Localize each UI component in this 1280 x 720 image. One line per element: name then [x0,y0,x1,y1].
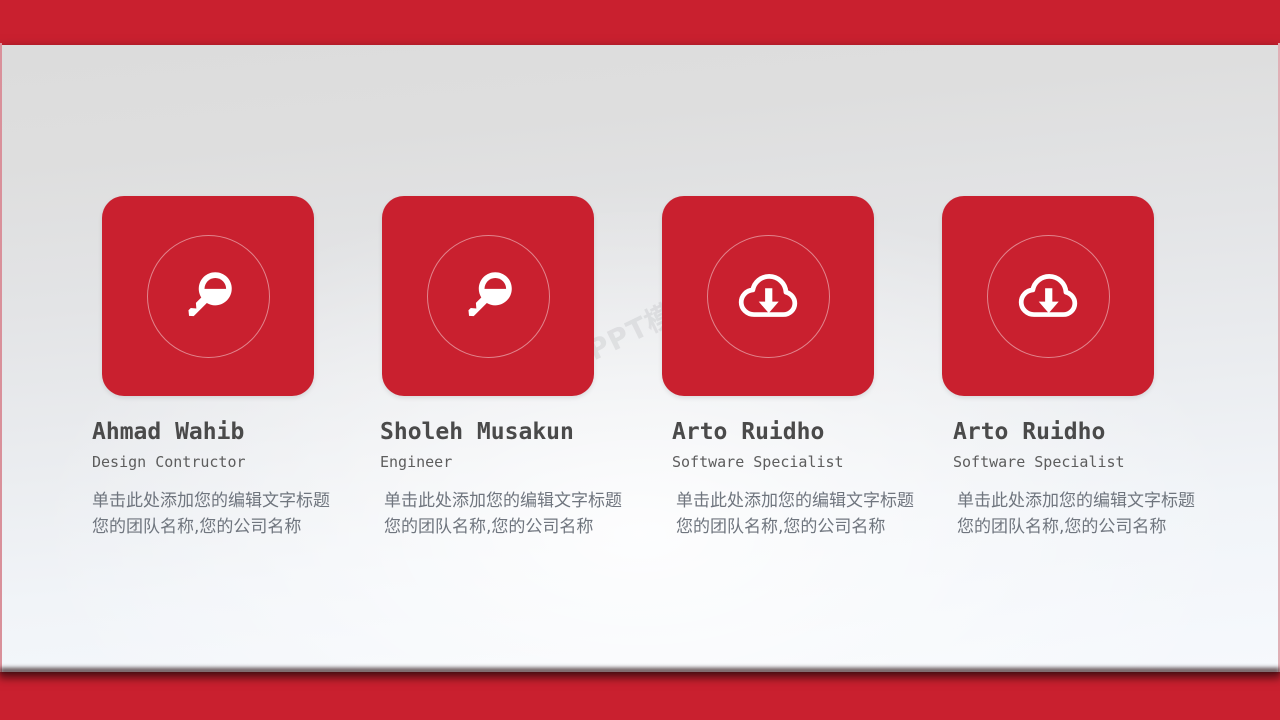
person-description: 单击此处添加您的编辑文字标题您的团队名称,您的公司名称 [953,488,1197,540]
team-card-2[interactable] [382,196,594,396]
key-icon [175,263,241,329]
person-name: Ahmad Wahib [92,418,354,446]
person-role: Design Contructor [92,448,354,476]
bottom-accent-band [0,670,1280,720]
person-role: Engineer [380,448,642,476]
top-accent-band [0,0,1280,43]
team-text-3: Arto Ruidho Software Specialist 单击此处添加您的… [672,418,934,540]
team-text-4: Arto Ruidho Software Specialist 单击此处添加您的… [953,418,1215,540]
person-name: Arto Ruidho [953,418,1215,446]
team-text-2: Sholeh Musakun Engineer 单击此处添加您的编辑文字标题您的… [380,418,642,540]
person-description: 单击此处添加您的编辑文字标题您的团队名称,您的公司名称 [92,488,332,540]
team-card-1[interactable] [102,196,314,396]
slide-canvas: 亚PPT模园 [0,0,1280,720]
person-description: 单击此处添加您的编辑文字标题您的团队名称,您的公司名称 [672,488,916,540]
cloud-download-icon [735,263,801,329]
left-edge-hairline [0,43,2,672]
key-icon [455,263,521,329]
person-role: Software Specialist [672,448,934,476]
team-card-4[interactable] [942,196,1154,396]
team-icon-cards [102,196,1158,396]
person-name: Sholeh Musakun [380,418,642,446]
team-text-1: Ahmad Wahib Design Contructor 单击此处添加您的编辑… [92,418,354,540]
team-card-3[interactable] [662,196,874,396]
cloud-download-icon [1015,263,1081,329]
person-name: Arto Ruidho [672,418,934,446]
person-description: 单击此处添加您的编辑文字标题您的团队名称,您的公司名称 [380,488,624,540]
person-role: Software Specialist [953,448,1215,476]
